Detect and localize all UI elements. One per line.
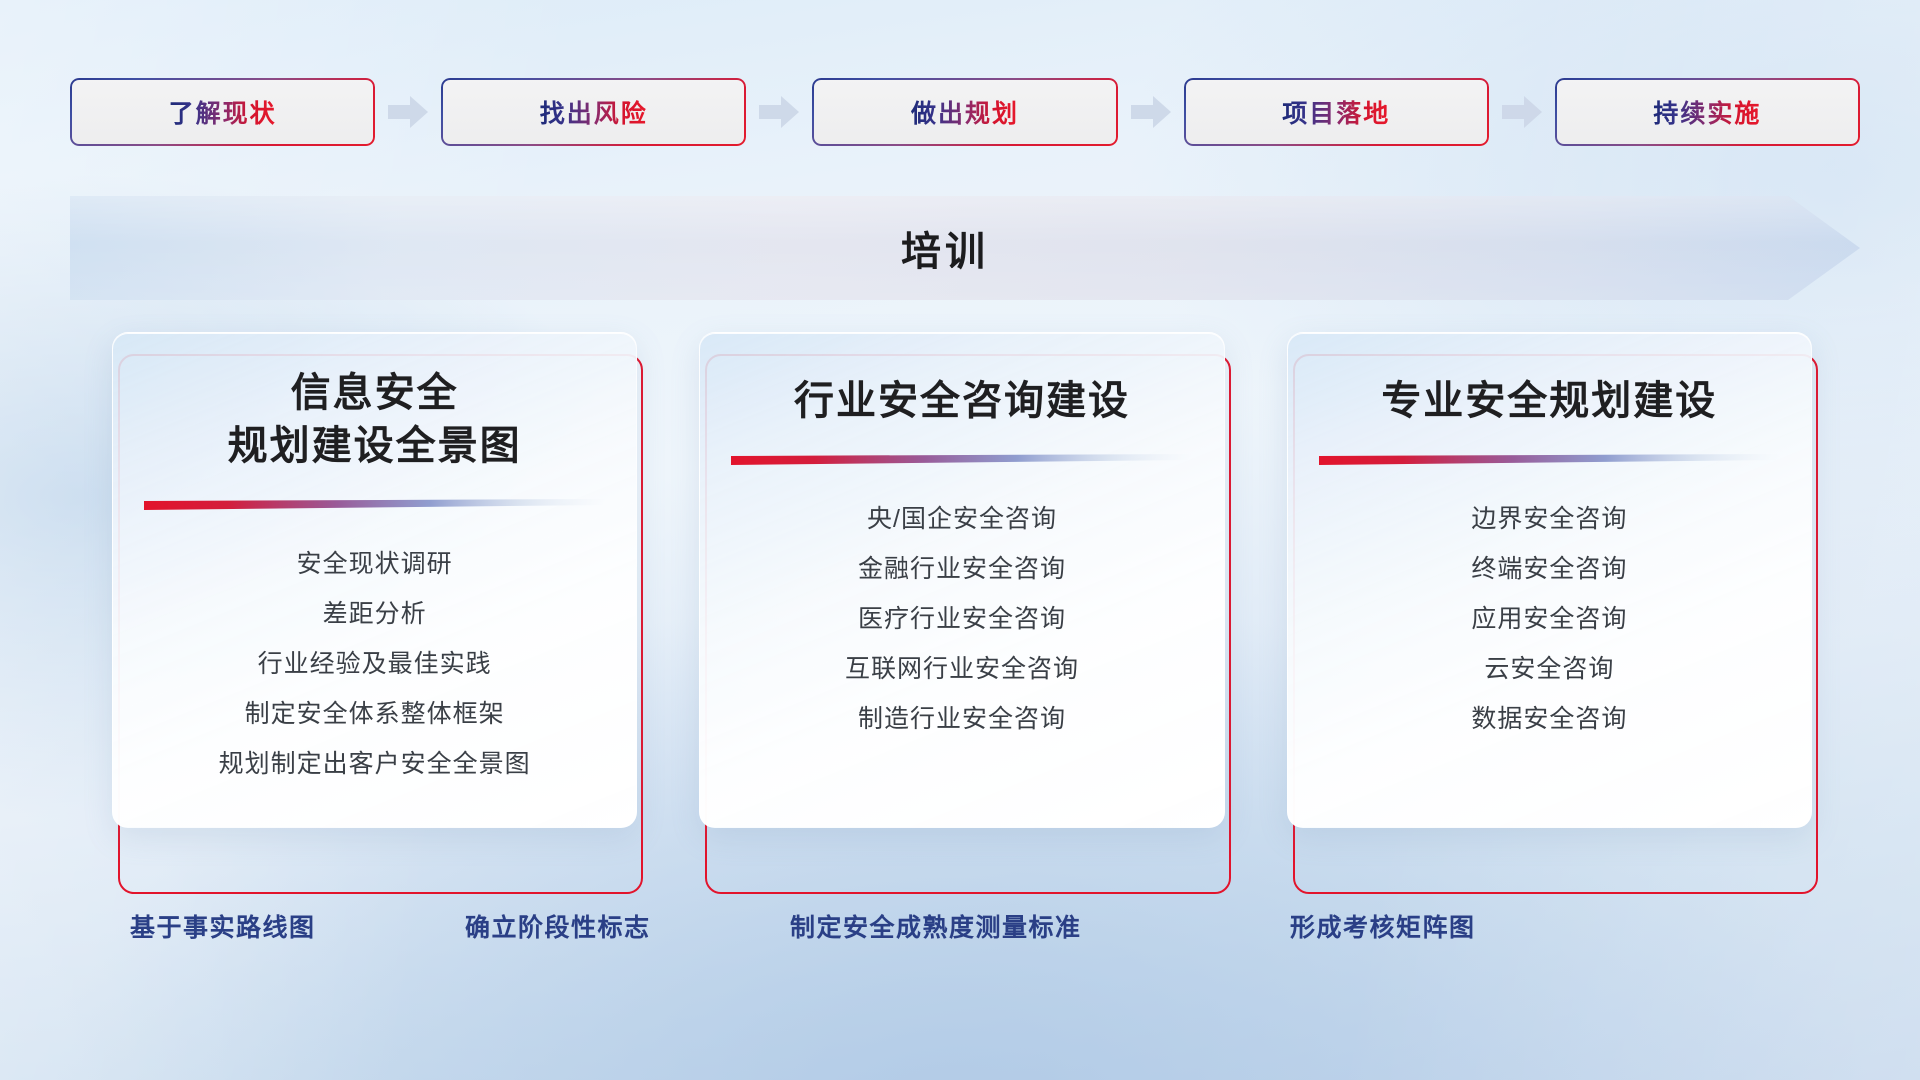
card-3[interactable]: 专业安全规划建设边界安全咨询终端安全咨询应用安全咨询云安全咨询数据安全咨询	[1287, 332, 1812, 872]
step-arrow-icon	[1489, 78, 1555, 146]
step-label: 了解现状	[169, 94, 277, 130]
step-box-4[interactable]: 项目落地	[1184, 78, 1489, 146]
card-item-list: 安全现状调研差距分析行业经验及最佳实践制定安全体系整体框架规划制定出客户安全全景…	[113, 543, 636, 786]
step-label: 做出规划	[911, 94, 1019, 130]
step-arrow-icon	[1118, 78, 1184, 146]
cards-row: 信息安全 规划建设全景图安全现状调研差距分析行业经验及最佳实践制定安全体系整体框…	[112, 332, 1812, 872]
card-list-item: 安全现状调研	[297, 543, 453, 586]
card-item-list: 边界安全咨询终端安全咨询应用安全咨询云安全咨询数据安全咨询	[1288, 498, 1811, 741]
card-list-item: 数据安全咨询	[1471, 698, 1627, 741]
card-list-item: 制造行业安全咨询	[858, 698, 1066, 741]
step-label: 找出风险	[540, 94, 648, 130]
card-list-item: 应用安全咨询	[1471, 598, 1627, 641]
card-list-item: 金融行业安全咨询	[858, 548, 1066, 591]
step-box-1[interactable]: 了解现状	[70, 78, 375, 146]
step-label: 持续实施	[1653, 94, 1761, 130]
card-1[interactable]: 信息安全 规划建设全景图安全现状调研差距分析行业经验及最佳实践制定安全体系整体框…	[112, 332, 637, 872]
caption-row: 基于事实路线图确立阶段性标志制定安全成熟度测量标准形成考核矩阵图	[0, 908, 1920, 964]
step-box-3[interactable]: 做出规划	[812, 78, 1117, 146]
card-title: 信息安全 规划建设全景图	[228, 367, 522, 473]
card-list-item: 制定安全体系整体框架	[245, 693, 505, 736]
caption-1: 基于事实路线图	[130, 908, 316, 944]
step-arrow-icon	[746, 78, 812, 146]
card-divider	[1319, 454, 1780, 468]
card-list-item: 互联网行业安全咨询	[845, 648, 1079, 691]
card-title: 专业安全规划建设	[1381, 375, 1717, 428]
step-box-2[interactable]: 找出风险	[441, 78, 746, 146]
card-panel: 行业安全咨询建设央/国企安全咨询金融行业安全咨询医疗行业安全咨询互联网行业安全咨…	[699, 332, 1224, 828]
card-list-item: 央/国企安全咨询	[867, 498, 1057, 541]
caption-2: 确立阶段性标志	[465, 908, 651, 944]
card-list-item: 边界安全咨询	[1471, 498, 1627, 541]
card-list-item: 医疗行业安全咨询	[858, 598, 1066, 641]
banner-title: 培训	[70, 196, 1860, 300]
card-list-item: 行业经验及最佳实践	[258, 643, 492, 686]
card-item-list: 央/国企安全咨询金融行业安全咨询医疗行业安全咨询互联网行业安全咨询制造行业安全咨…	[700, 498, 1223, 741]
training-banner: 培训	[70, 196, 1860, 300]
step-box-5[interactable]: 持续实施	[1555, 78, 1860, 146]
card-divider	[144, 499, 605, 513]
card-panel: 专业安全规划建设边界安全咨询终端安全咨询应用安全咨询云安全咨询数据安全咨询	[1287, 332, 1812, 828]
step-label: 项目落地	[1282, 94, 1390, 130]
card-panel: 信息安全 规划建设全景图安全现状调研差距分析行业经验及最佳实践制定安全体系整体框…	[112, 332, 637, 828]
card-list-item: 差距分析	[323, 593, 427, 636]
caption-3: 制定安全成熟度测量标准	[790, 908, 1082, 944]
card-list-item: 云安全咨询	[1484, 648, 1614, 691]
card-title: 行业安全咨询建设	[794, 375, 1130, 428]
card-divider	[731, 454, 1192, 468]
card-list-item: 终端安全咨询	[1471, 548, 1627, 591]
process-steps: 了解现状找出风险做出规划项目落地持续实施	[70, 78, 1860, 146]
card-2[interactable]: 行业安全咨询建设央/国企安全咨询金融行业安全咨询医疗行业安全咨询互联网行业安全咨…	[699, 332, 1224, 872]
step-arrow-icon	[375, 78, 441, 146]
caption-4: 形成考核矩阵图	[1290, 908, 1476, 944]
card-list-item: 规划制定出客户安全全景图	[219, 743, 531, 786]
